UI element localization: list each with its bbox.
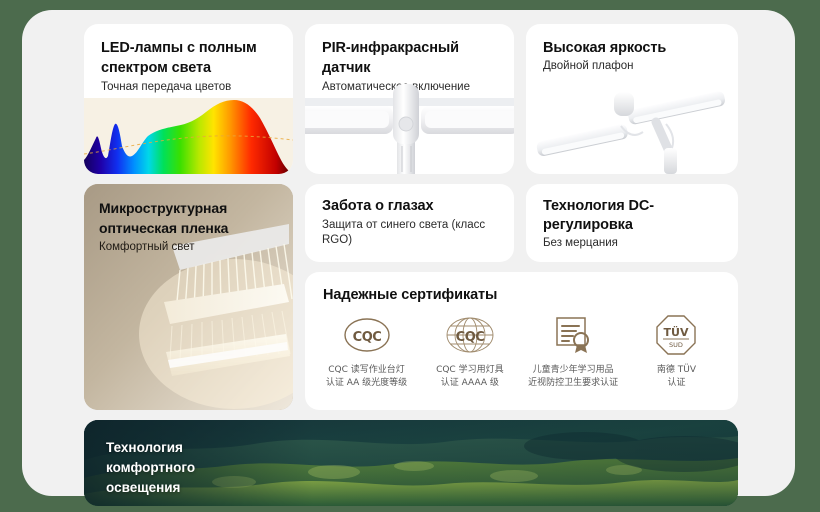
card-title: Надежные сертификаты <box>323 285 497 305</box>
card-title: Технология DC-регулировка <box>543 197 723 235</box>
card-certificates[interactable]: Надежные сертификаты CQC CQC 读写作业台灯 认证 A… <box>305 272 738 410</box>
svg-text:CQC: CQC <box>352 330 381 345</box>
card-optical-film[interactable]: Микроструктурная оптическая пленка Комфо… <box>84 184 293 410</box>
card-led-full-spectrum[interactable]: LED-лампы с полным спектром света Точная… <box>84 24 293 174</box>
card-subtitle: Защита от синего света (класс RGO) <box>322 218 514 248</box>
card-high-brightness[interactable]: Высокая яркость Двойной плафон <box>526 24 738 174</box>
card-title: Микроструктурная оптическая пленка <box>99 198 289 238</box>
card-subtitle: Комфортный свет <box>99 240 195 255</box>
svg-text:CQC: CQC <box>456 330 485 345</box>
svg-text:SUD: SUD <box>670 341 684 349</box>
certificate-caption: CQC 读写作业台灯 认证 AA 级光度等级 <box>326 364 407 390</box>
card-title: Высокая яркость <box>543 38 728 58</box>
card-title: LED-лампы с полным спектром света <box>101 38 281 78</box>
certificate-item[interactable]: CQC CQC 读写作业台灯 认证 AA 级光度等级 <box>315 312 418 390</box>
feature-grid: LED-лампы с полным спектром света Точная… <box>84 24 738 486</box>
certificate-ribbon-icon <box>552 312 594 358</box>
tuv-sud-badge-icon: TÜV SUD <box>655 312 697 358</box>
card-eye-care[interactable]: Забота о глазах Защита от синего света (… <box>305 184 514 262</box>
certificate-caption: 儿童青少年学习用品 近视防控卫生要求认证 <box>528 364 618 390</box>
page-root: LED-лампы с полным спектром света Точная… <box>0 0 820 512</box>
certificate-caption: CQC 学习用灯具 认证 AAAA 级 <box>436 364 504 390</box>
certificate-item[interactable]: TÜV SUD 南德 TÜV 认证 <box>625 312 728 390</box>
certificate-item[interactable]: CQC CQC 学习用灯具 认证 AAAA 级 <box>418 312 521 390</box>
card-dc-dimming[interactable]: Технология DC-регулировка Без мерцания <box>526 184 738 262</box>
cqc-oval-badge-icon: CQC <box>343 312 391 358</box>
card-title: Забота о глазах <box>322 197 433 216</box>
banner-comfort-lighting[interactable]: Технология комфортного освещения <box>84 420 738 506</box>
card-subtitle: Точная передача цветов <box>101 80 231 95</box>
card-subtitle: Двойной плафон <box>543 59 634 74</box>
svg-text:TÜV: TÜV <box>664 325 689 339</box>
lamp-pir-sensor-icon <box>305 84 514 174</box>
card-pir-sensor[interactable]: PIR-инфракрасный датчик Автоматическое в… <box>305 24 514 174</box>
certificate-item[interactable]: 儿童青少年学习用品 近视防控卫生要求认证 <box>522 312 625 390</box>
certificate-list: CQC CQC 读写作业台灯 认证 AA 级光度等级 <box>315 312 728 390</box>
spectrum-chart-icon <box>84 98 293 174</box>
card-title: PIR-инфракрасный датчик <box>322 38 507 78</box>
cqc-globe-badge-icon: CQC <box>445 312 495 358</box>
desk-lamp-icon <box>526 74 738 174</box>
certificate-caption: 南德 TÜV 认证 <box>657 364 696 390</box>
banner-title: Технология комфортного освещения <box>106 438 256 498</box>
card-subtitle: Без мерцания <box>543 236 618 251</box>
content-shell: LED-лампы с полным спектром света Точная… <box>22 10 795 496</box>
